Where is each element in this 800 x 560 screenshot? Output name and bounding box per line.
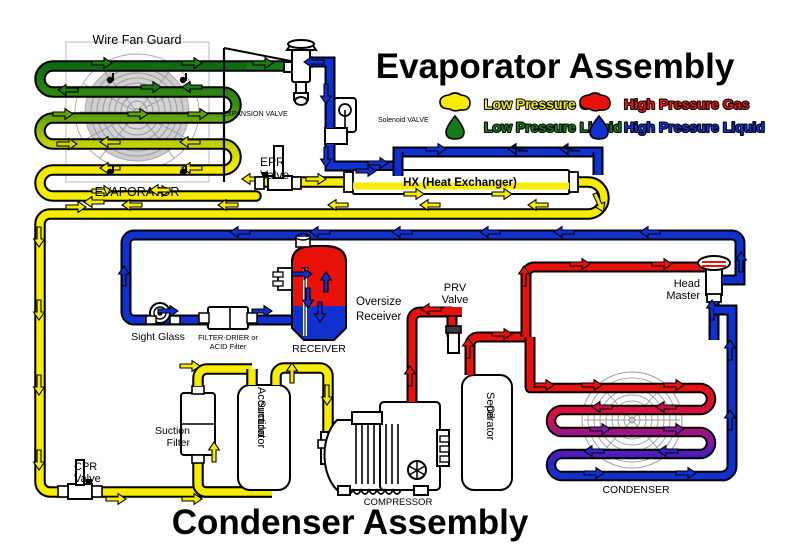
epr-valve-label-1: EPR: [260, 155, 285, 169]
suction-filter-label-2: Filter: [167, 437, 191, 449]
filter-drier-label-1: FILTER-DRIER or: [198, 333, 258, 342]
filter-drier-label-2: ACID Filter: [210, 342, 247, 351]
liquid-line-lower: [126, 300, 286, 329]
cpr-valve-label-2: Valve: [74, 473, 101, 485]
page-title-condenser: Condenser Assembly: [172, 503, 529, 542]
legend-label-1: High Pressure Gas: [624, 96, 749, 112]
receiver-label: RECEIVER: [292, 343, 346, 355]
prv-valve-label-2: Valve: [442, 294, 469, 306]
legend-label-3: High Pressure Liquid: [624, 119, 765, 135]
oil-separator-label-2: Seperator: [484, 392, 496, 441]
prv-valve-label-1: PRV: [444, 282, 467, 294]
page-title-evaporator: Evaporator Assembly: [376, 47, 735, 86]
suction-accumulator-label-2: Accumulator: [255, 387, 267, 448]
legend: Low Pressure Gas High Pressure Gas Low P…: [440, 93, 765, 139]
head-master-label-2: Master: [666, 290, 700, 302]
diagram-canvas: Wire Fan Guard: [0, 0, 800, 560]
expansion-valve-label: EXPANSION VALVE: [222, 109, 288, 118]
condenser-coil: [530, 388, 722, 476]
sight-glass-label: Sight Glass: [131, 331, 185, 343]
condenser-label: CONDENSER: [602, 484, 670, 496]
compressor-label: COMPRESSOR: [364, 497, 433, 508]
head-master-label-1: Head: [674, 278, 700, 290]
oversize-receiver-label-1: Oversize: [356, 296, 401, 308]
suction-filter-label-1: Suction: [155, 425, 190, 437]
receiver: [273, 234, 352, 350]
heat-exchanger: HX (Heat Exchanger): [242, 152, 598, 199]
refrigeration-schematic: Wire Fan Guard: [0, 0, 800, 560]
solenoid-valve-label: Solenoid VALVE: [378, 117, 429, 124]
epr-valve-label-2: Valve: [260, 168, 289, 182]
cpr-valve-label-1: CPR: [74, 461, 97, 473]
compressor: [324, 402, 449, 495]
oversize-receiver-label-2: Receiver: [356, 311, 402, 323]
legend-item-1: High Pressure Gas: [580, 93, 749, 112]
wire-fan-guard-label: Wire Fan Guard: [93, 33, 182, 47]
heat-exchanger-label: HX (Heat Exchanger): [403, 177, 517, 189]
